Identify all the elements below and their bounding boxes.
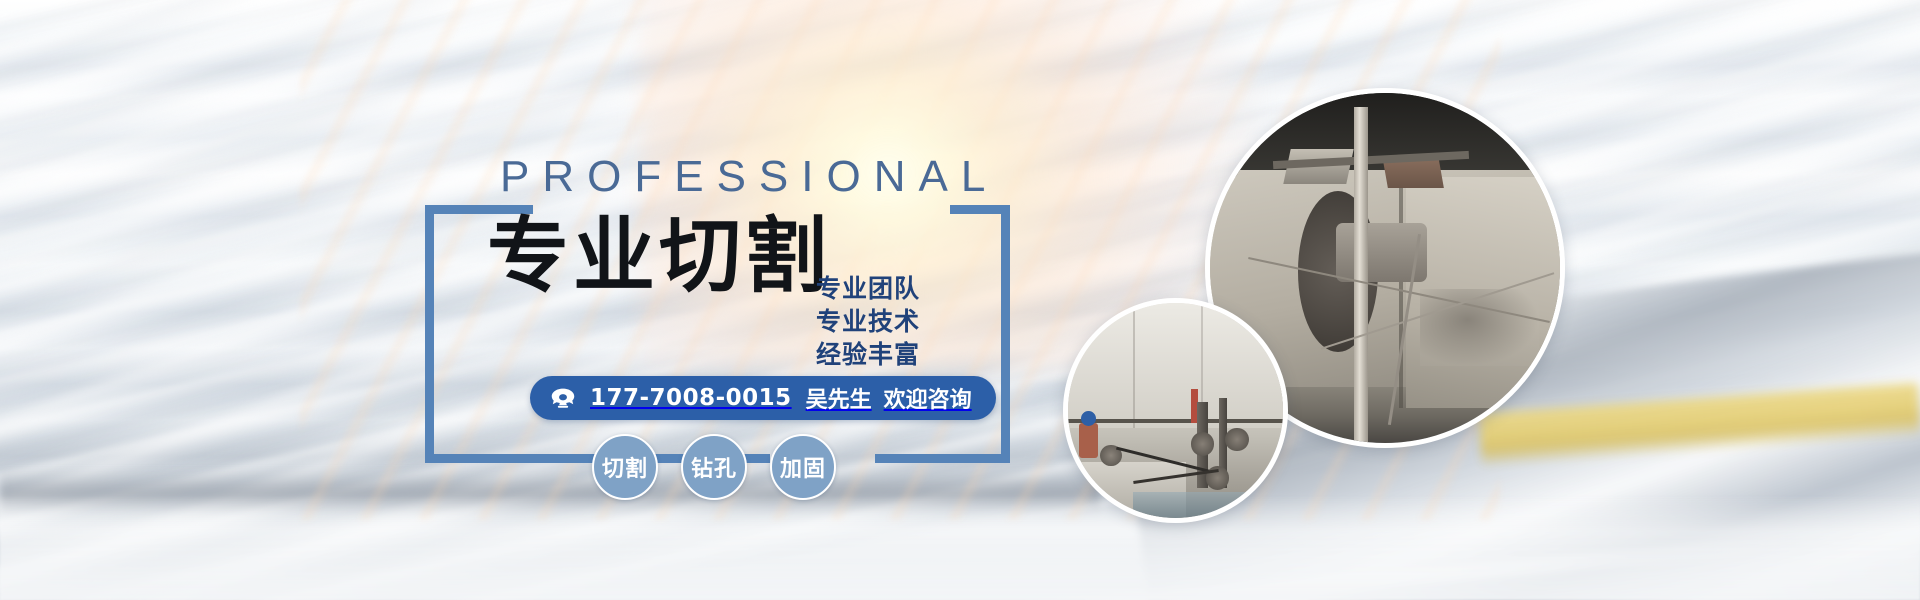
photo-pulley-1 <box>1191 432 1215 456</box>
phone-number: 177-7008-0015 <box>590 385 792 411</box>
feature-item: 专业团队 <box>816 272 920 305</box>
photo-wall-seam-1 <box>1133 303 1135 428</box>
photo-horizontal-cut <box>1068 419 1283 423</box>
photo-worker-helmet <box>1081 411 1096 426</box>
photo-cut-seam <box>1399 177 1403 408</box>
photo-worker-body <box>1079 423 1098 457</box>
service-badge-drilling[interactable]: 钻孔 <box>681 434 747 500</box>
telephone-icon <box>548 383 578 413</box>
photo-water-pool <box>1133 492 1284 518</box>
photo-rubble <box>1420 289 1539 366</box>
service-badge-reinforcement[interactable]: 加固 <box>770 434 836 500</box>
service-badge-list: 切割 钻孔 加固 <box>592 434 836 500</box>
contact-cta-text: 欢迎咨询 <box>884 382 972 414</box>
background-bottom-fade <box>0 495 1920 600</box>
promo-banner: PROFESSIONAL 专业切割 专业团队 专业技术 经验丰富 177-700… <box>0 0 1920 600</box>
feature-item: 专业技术 <box>816 305 920 338</box>
feature-item: 经验丰富 <box>816 338 920 371</box>
background-highway-image <box>0 0 1920 600</box>
photo-support-post <box>1354 107 1369 443</box>
contact-phone-bar[interactable]: 177-7008-0015 吴先生 欢迎咨询 <box>530 376 996 420</box>
service-badge-cutting[interactable]: 切割 <box>592 434 658 500</box>
contact-person-name: 吴先生 <box>806 382 872 414</box>
photo-pulley-2 <box>1225 428 1249 452</box>
photo-wall <box>1068 303 1283 428</box>
page-title: 专业切割 <box>487 216 831 298</box>
feature-list: 专业团队 专业技术 经验丰富 <box>816 272 920 371</box>
eyebrow-text: PROFESSIONAL <box>500 152 998 202</box>
wire-saw-worker-photo <box>1063 298 1288 523</box>
